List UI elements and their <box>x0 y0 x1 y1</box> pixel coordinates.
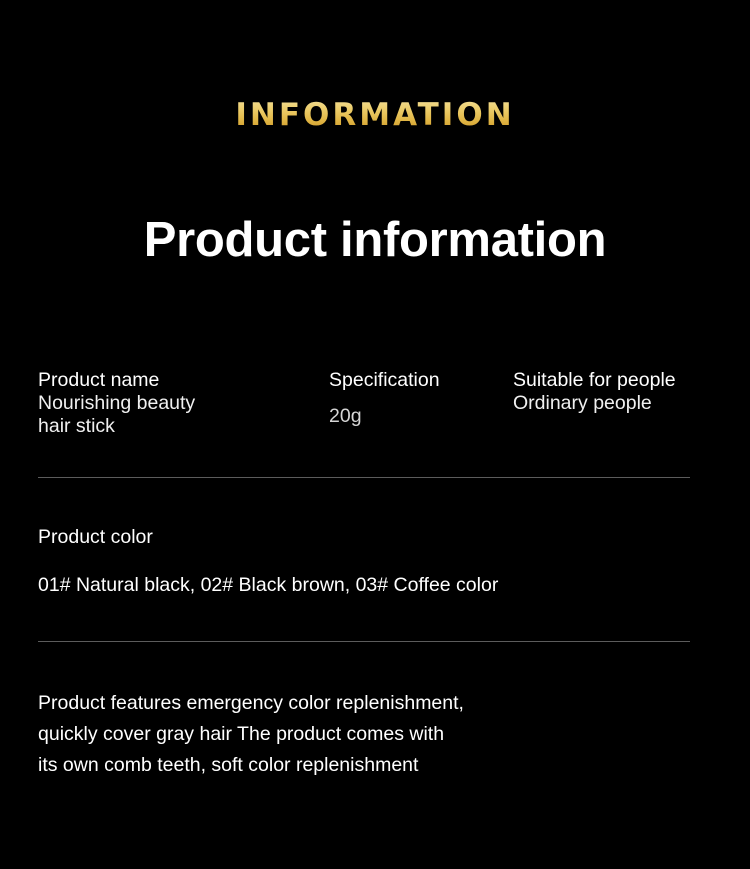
page-title-container: Product information <box>0 180 750 301</box>
eyebrow-text: INFORMATION <box>235 100 514 131</box>
product-color-values: 01# Natural black, 02# Black brown, 03# … <box>38 574 498 597</box>
product-features-paragraph: Product features emergency color repleni… <box>38 688 638 781</box>
spec-label-specification: Specification <box>329 369 499 392</box>
page-title: Product information <box>144 213 607 268</box>
product-features-line-1: Product features emergency color repleni… <box>38 688 638 719</box>
spec-label-suitable-for-people: Suitable for people <box>513 369 738 392</box>
product-features-line-3: its own comb teeth, soft color replenish… <box>38 750 638 781</box>
spec-value-product-name-line-1: Nourishing beauty <box>38 392 318 415</box>
spec-value-product-name-line-2: hair stick <box>38 415 318 438</box>
divider-top <box>38 477 690 478</box>
spec-value-specification: 20g <box>329 405 499 428</box>
spec-label-product-name: Product name <box>38 369 318 392</box>
spec-column-specification: Specification 20g <box>329 369 499 428</box>
divider-bottom <box>38 641 690 642</box>
spec-column-product-name: Product name Nourishing beauty hair stic… <box>38 369 318 438</box>
product-color-label: Product color <box>38 526 153 549</box>
product-features-line-2: quickly cover gray hair The product come… <box>38 719 638 750</box>
product-information-page: INFORMATION Product information Product … <box>0 0 750 869</box>
spec-value-suitable-for-people: Ordinary people <box>513 392 738 415</box>
spec-column-suitable-for-people: Suitable for people Ordinary people <box>513 369 738 415</box>
eyebrow-container: INFORMATION <box>0 100 750 131</box>
